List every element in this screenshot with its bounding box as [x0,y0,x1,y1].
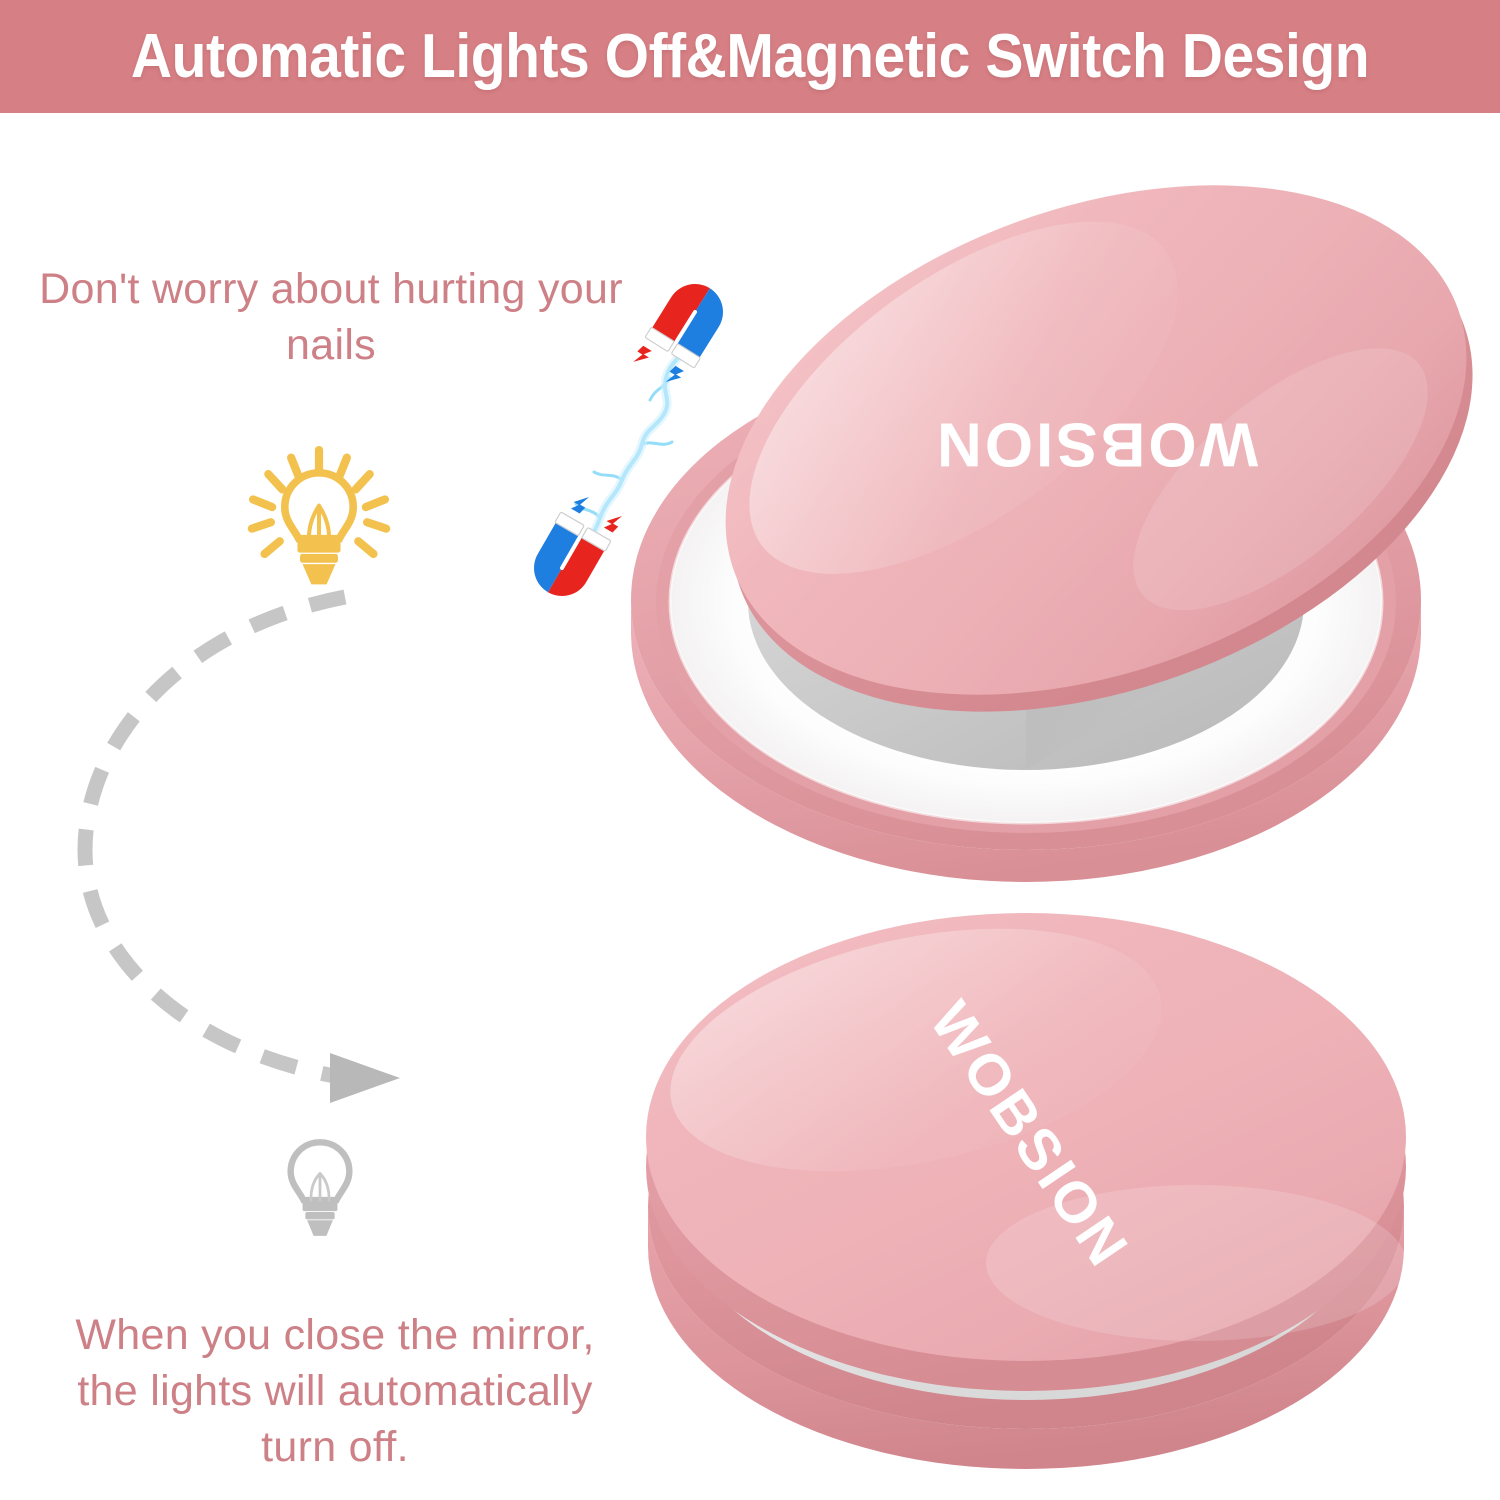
banner-title: Automatic Lights Off&Magnetic Switch Des… [131,21,1369,92]
caption-auto-off: When you close the mirror, the lights wi… [40,1308,630,1476]
curved-dashed-arrow-icon [55,575,455,1125]
product-feature-image: Automatic Lights Off&Magnetic Switch Des… [0,0,1500,1500]
closed-mirror-product: WOBSION [596,875,1466,1455]
lightbulb-off-icon [265,1135,375,1245]
closed-mirror-lid: WOBSION [646,888,1406,1391]
brand-logo-open: WOBSION [934,410,1258,479]
header-banner: Automatic Lights Off&Magnetic Switch Des… [0,0,1500,113]
open-mirror-product: WOBSION [596,140,1466,870]
